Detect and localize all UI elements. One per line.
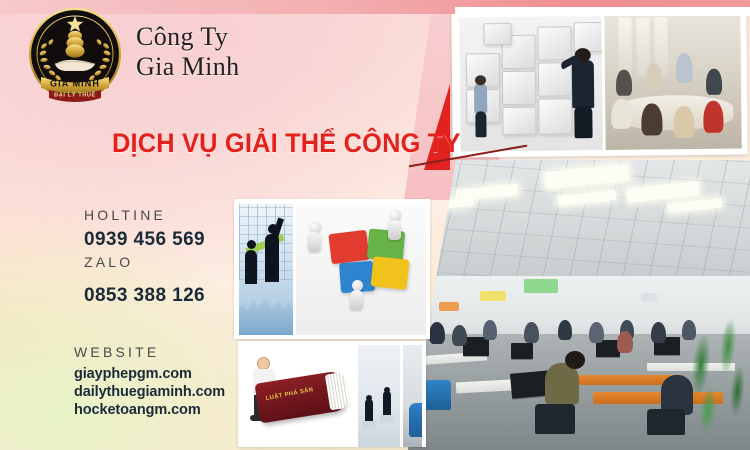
silhouette-figure	[383, 391, 391, 415]
puzzle-piece-red	[328, 230, 369, 264]
logo-subtitle-text: ĐẠI LÝ THUẾ	[54, 91, 96, 98]
website-url-2[interactable]: dailythuegiaminh.com	[74, 383, 225, 401]
meeting-attendee	[673, 106, 694, 138]
book-title: LUẬT PHÁ SẢN	[265, 387, 314, 402]
zalo-number[interactable]: 0853 388 126	[84, 284, 205, 307]
hotline-number[interactable]: 0939 456 569	[84, 228, 205, 251]
logo-name-text: GIA MINH	[50, 79, 100, 89]
office-worker	[524, 322, 539, 343]
puzzle-piece-yellow	[371, 256, 410, 290]
company-name-line1: Công Ty	[136, 22, 240, 52]
page-title: DỊCH VỤ GIẢI THỂ CÔNG TY	[112, 128, 461, 158]
meeting-presenter	[676, 53, 693, 83]
bankruptcy-law-book-photo: LUẬT PHÁ SẢN	[238, 341, 426, 447]
office-chair	[425, 380, 451, 410]
presenter-legs	[574, 106, 592, 138]
silhouette-man	[265, 234, 279, 282]
silhouette-head	[366, 395, 372, 401]
blue-office-chair	[409, 403, 422, 437]
meeting-attendee	[646, 64, 662, 90]
worker-head	[475, 75, 486, 85]
hanging-sign	[480, 291, 506, 301]
office-monitor	[511, 343, 533, 359]
office-worker	[589, 322, 604, 343]
worker-legs	[475, 111, 486, 137]
puzzle-piece	[502, 107, 536, 135]
meeting-room-scene	[605, 15, 742, 150]
contact-spacer	[84, 275, 205, 284]
office-chair-scene	[403, 345, 422, 447]
contact-block: HOLTINE 0939 456 569 ZALO 0853 388 126	[84, 205, 205, 308]
hotline-label: HOLTINE	[84, 205, 205, 225]
hanging-sign	[524, 279, 558, 293]
silhouette-woman	[245, 250, 257, 284]
office-worker	[452, 325, 467, 346]
top-band-white-notch	[455, 7, 750, 16]
office-worker	[617, 331, 633, 353]
puzzle-piece	[502, 71, 536, 105]
puzzle-piece	[538, 62, 572, 96]
hanging-sign	[439, 302, 459, 311]
book-pages	[325, 372, 350, 411]
puzzle-piece	[537, 26, 571, 60]
office-worker-foreground	[545, 363, 579, 405]
website-label: WEBSITE	[74, 342, 225, 362]
puzzle-piece	[573, 22, 603, 52]
podium	[380, 415, 394, 423]
puzzle-wall-scene	[459, 16, 603, 151]
marketing-banner: GIA MINH ĐẠI LÝ THUẾ Công Ty Gia Minh DỊ…	[0, 0, 750, 450]
presenter-suit	[572, 60, 595, 108]
meeting-window	[619, 18, 633, 77]
website-block: WEBSITE giayphepgm.com dailythuegiaminh.…	[74, 342, 225, 419]
worker-assembling-puzzle	[474, 83, 487, 113]
meeting-attendee	[706, 68, 722, 94]
silhouette-figure	[365, 399, 373, 421]
business-and-puzzle-photo	[234, 199, 430, 339]
website-url-1[interactable]: giayphepgm.com	[74, 365, 225, 383]
company-logo: GIA MINH ĐẠI LÝ THUẾ	[27, 6, 123, 102]
office-worker	[651, 322, 666, 343]
3d-puzzle-teamwork-scene	[296, 204, 426, 335]
meeting-attendee	[611, 99, 631, 129]
puzzle-piece	[538, 98, 572, 134]
office-worker	[429, 322, 445, 344]
puzzle-and-meeting-photo	[451, 6, 748, 157]
company-name: Công Ty Gia Minh	[136, 22, 240, 82]
meeting-attendee	[641, 104, 662, 136]
zalo-label: ZALO	[84, 252, 205, 272]
silhouette-podium-scene	[358, 345, 400, 447]
open-plan-office-photo	[408, 160, 750, 450]
website-url-3[interactable]: hocketoangm.com	[74, 401, 225, 419]
laurel-wreath-emblem-icon: GIA MINH ĐẠI LÝ THUẾ	[27, 6, 123, 102]
podium	[362, 421, 376, 429]
business-silhouette-scene	[239, 204, 293, 335]
silhouette-woman-head	[247, 240, 256, 249]
company-name-line2: Gia Minh	[136, 52, 240, 82]
man-carrying-book-scene: LUẬT PHÁ SẢN	[243, 345, 355, 447]
meeting-attendee	[703, 100, 723, 132]
city-skyline	[239, 290, 293, 335]
office-ceiling	[408, 160, 750, 293]
hanging-sign	[641, 293, 657, 301]
office-chair	[535, 404, 575, 434]
silhouette-head	[384, 387, 390, 393]
puzzle-piece	[483, 23, 511, 45]
